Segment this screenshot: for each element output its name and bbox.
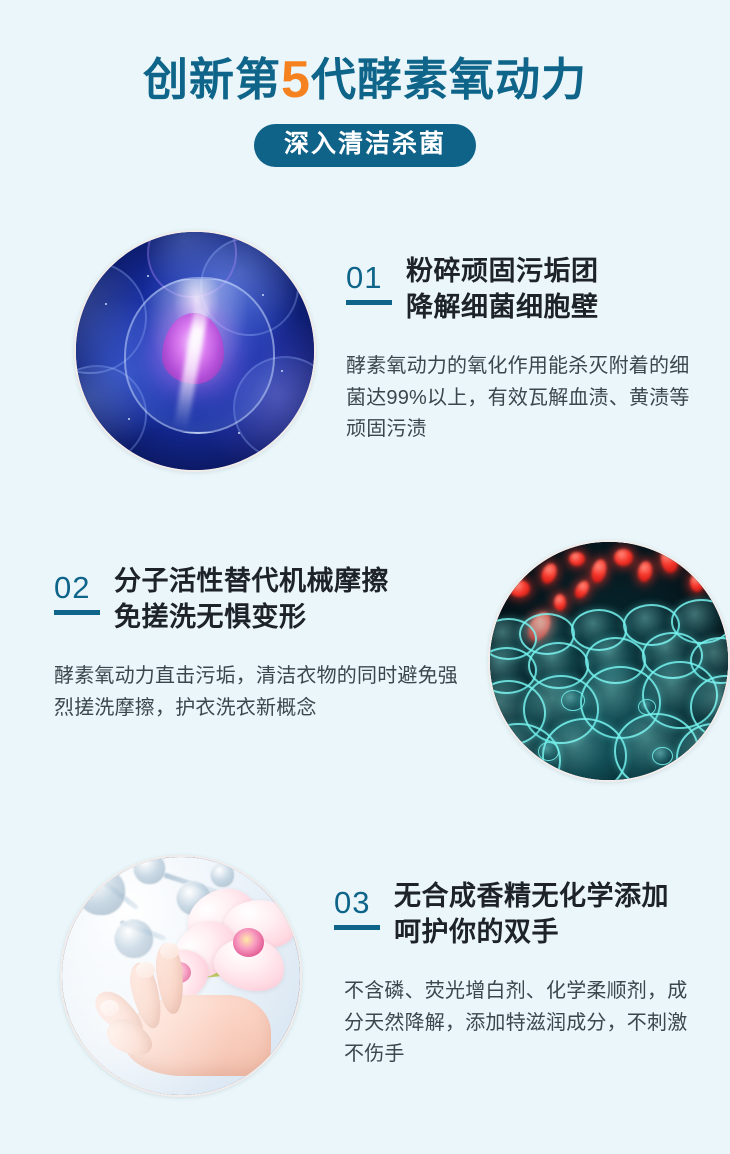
teal-bubbles-artwork — [490, 542, 728, 780]
feature-heading-line1: 粉碎顽固污垢团 — [406, 254, 599, 290]
feature-heading-02: 分子活性替代机械摩擦 免搓洗无惧变形 — [114, 564, 389, 635]
red-particle-icon — [660, 546, 680, 574]
molecule-node-icon — [114, 919, 154, 959]
fingernail — [136, 962, 155, 979]
molecule-node-icon — [133, 855, 166, 885]
feature-number-col-03: 03 — [334, 879, 380, 930]
blue-cell-bubble-photo — [74, 230, 316, 472]
orchid-throat — [233, 928, 264, 957]
feature-text-01: 01 粉碎顽固污垢团 降解细菌细胞壁 酵素氧动力的氧化作用能杀灭附着的细菌达99… — [316, 230, 730, 446]
red-particle-icon — [636, 560, 654, 584]
feature-body-01: 酵素氧动力的氧化作用能杀灭附着的细菌达99%以上，有效瓦解血渍、黄渍等顽固污渍 — [346, 351, 690, 446]
blue-cell-bubble-artwork — [76, 232, 314, 470]
feature-number-underline — [334, 925, 380, 930]
page-title-highlight-number: 5 — [281, 51, 311, 109]
badge-row: 深入清洁杀菌 — [0, 124, 730, 167]
red-particle-icon — [614, 549, 633, 566]
hand-orchid-molecule-photo — [60, 855, 302, 1097]
feature-heading-line2: 呵护你的双手 — [394, 915, 669, 951]
red-particle-icon — [589, 557, 609, 584]
sparkle-dot — [281, 370, 283, 372]
feature-number-03: 03 — [334, 887, 380, 918]
teal-bubble-icon — [561, 690, 584, 711]
sparkle-dot — [147, 275, 149, 277]
feature-number-underline — [346, 300, 392, 305]
feature-heading-03: 无合成香精无化学添加 呵护你的双手 — [394, 879, 669, 950]
red-particle-icon — [572, 578, 592, 600]
hand-orchid-artwork — [62, 857, 300, 1095]
feature-heading-row-03: 03 无合成香精无化学添加 呵护你的双手 — [334, 879, 694, 950]
red-particle-icon — [539, 562, 560, 587]
feature-text-03: 03 无合成香精无化学添加 呵护你的双手 不含磷、荧光增白剂、化学柔顺剂，成分天… — [302, 855, 730, 1071]
feature-section-01: 01 粉碎顽固污垢团 降解细菌细胞壁 酵素氧动力的氧化作用能杀灭附着的细菌达99… — [0, 230, 730, 480]
feature-section-02: 02 分子活性替代机械摩擦 免搓洗无惧变形 酵素氧动力直击污垢，清洁衣物的同时避… — [0, 540, 730, 790]
feature-number-col-01: 01 — [346, 254, 392, 305]
feature-heading-row-02: 02 分子活性替代机械摩擦 免搓洗无惧变形 — [54, 564, 468, 635]
status-badge: 深入清洁杀菌 — [254, 124, 476, 167]
molecule-node-icon — [210, 862, 236, 888]
sparkle-dot — [262, 294, 264, 296]
feature-image-wrap-01 — [74, 230, 316, 472]
feature-number-02: 02 — [54, 572, 100, 603]
teal-bubbles-red-particles-photo — [488, 540, 730, 782]
feature-section-03: 03 无合成香精无化学添加 呵护你的双手 不含磷、荧光增白剂、化学柔顺剂，成分天… — [0, 855, 730, 1105]
red-particle-icon — [569, 552, 586, 566]
feature-heading-01: 粉碎顽固污垢团 降解细菌细胞壁 — [406, 254, 599, 325]
red-particle-icon — [690, 573, 704, 592]
red-particle-icon — [509, 580, 530, 597]
red-particle-icon — [554, 594, 566, 611]
feature-image-wrap-02 — [488, 540, 730, 782]
feature-heading-line2: 降解细菌细胞壁 — [406, 290, 599, 326]
feature-number-01: 01 — [346, 262, 392, 293]
feature-number-col-02: 02 — [54, 564, 100, 615]
feature-body-02: 酵素氧动力直击污垢，清洁衣物的同时避免强烈搓洗摩擦，护衣洗衣新概念 — [54, 661, 468, 724]
page-title-suffix: 代酵素氧动力 — [311, 54, 587, 105]
feature-number-underline — [54, 610, 100, 615]
feature-heading-line1: 无合成香精无化学添加 — [394, 879, 669, 915]
teal-bubble-icon — [538, 742, 559, 761]
feature-text-02: 02 分子活性替代机械摩擦 免搓洗无惧变形 酵素氧动力直击污垢，清洁衣物的同时避… — [0, 540, 488, 724]
feature-image-wrap-03 — [60, 855, 302, 1097]
feature-heading-row-01: 01 粉碎顽固污垢团 降解细菌细胞壁 — [346, 254, 690, 325]
sparkle-dot — [238, 432, 240, 434]
molecule-node-icon — [76, 867, 126, 917]
teal-bubble-icon — [652, 747, 673, 766]
page-title: 创新第5代酵素氧动力 — [0, 52, 730, 108]
feature-body-03: 不含磷、荧光增白剂、化学柔顺剂，成分天然降解，添加特滋润成分，不刺激不伤手 — [344, 976, 694, 1071]
fingernail — [160, 943, 179, 960]
feature-heading-line2: 免搓洗无惧变形 — [114, 600, 389, 636]
page-title-prefix: 创新第 — [143, 54, 281, 105]
feature-heading-line1: 分子活性替代机械摩擦 — [114, 564, 389, 600]
page-header: 创新第5代酵素氧动力 深入清洁杀菌 — [0, 0, 730, 167]
